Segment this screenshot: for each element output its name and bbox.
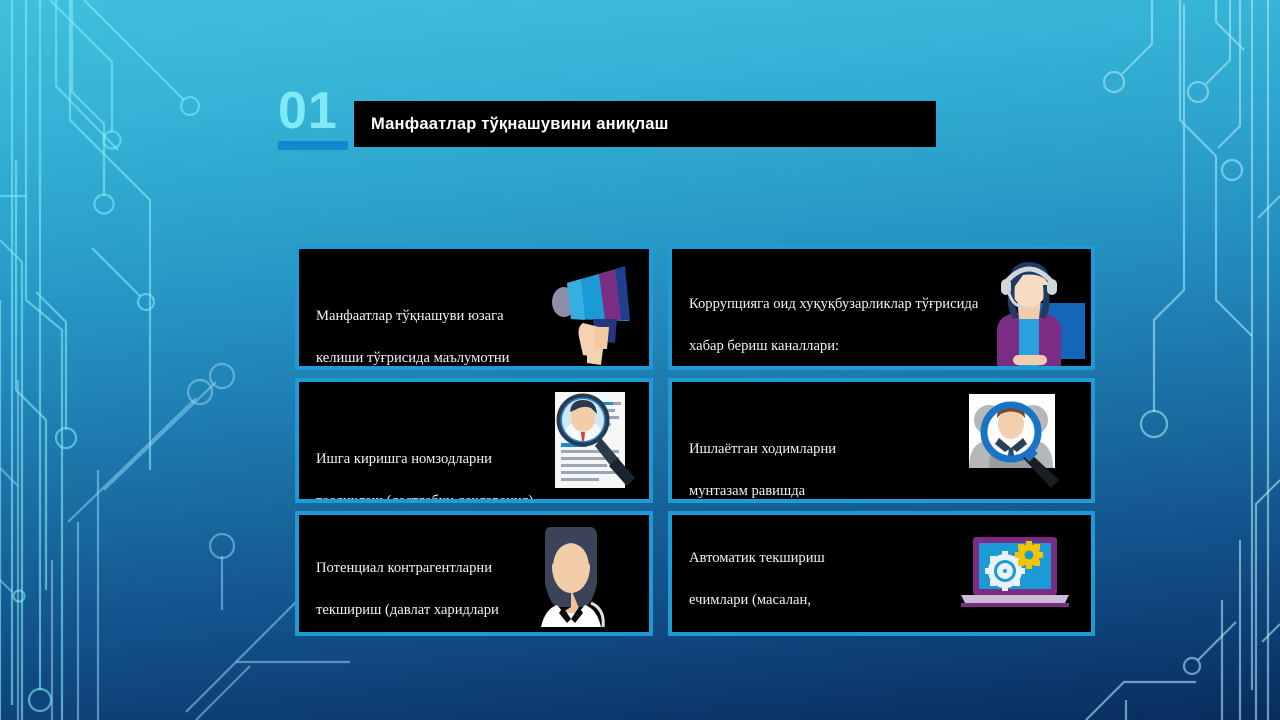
card-text: Автоматик текшириш ечимлари (масалан, ка… [689,527,980,636]
card-text: Ишга киришга номзодларни тасдиқлаш (даст… [316,428,533,503]
card-automated-checks[interactable]: Автоматик текшириш ечимлари (масалан, ка… [668,511,1095,636]
card-text: Потенциал контрагентларни текшириш (давл… [316,537,558,636]
card-reporting-channels[interactable]: Коррупцияга оид хуқуқбузарликлар тўғриси… [668,245,1095,370]
card-employee-monitoring[interactable]: Ишлаётган ходимларни мунтазам равишда те… [668,378,1095,503]
employee-search-icon [965,388,1075,498]
card-text: Манфаатлар тўқнашуви юзага келиши тўғрис… [316,285,565,370]
card-disclosure[interactable]: Манфаатлар тўқнашуви юзага келиши тўғрис… [295,245,653,370]
card-candidate-verification[interactable]: Ишга киришга номзодларни тасдиқлаш (даст… [295,378,653,503]
card-text: Ишлаётган ходимларни мунтазам равишда те… [689,418,916,503]
card-text: Коррупцияга оид хуқуқбузарликлар тўғриси… [689,273,978,370]
slide-canvas: 01 Манфаатлар тўқнашувини аниқлаш Манфаа… [0,0,1280,720]
card-grid: Манфаатлар тўқнашуви юзага келиши тўғрис… [0,0,1280,720]
call-center-operator-icon [983,259,1087,370]
resume-magnifier-icon [547,388,639,498]
card-counterparty-check[interactable]: Потенциал контрагентларни текшириш (давл… [295,511,653,636]
